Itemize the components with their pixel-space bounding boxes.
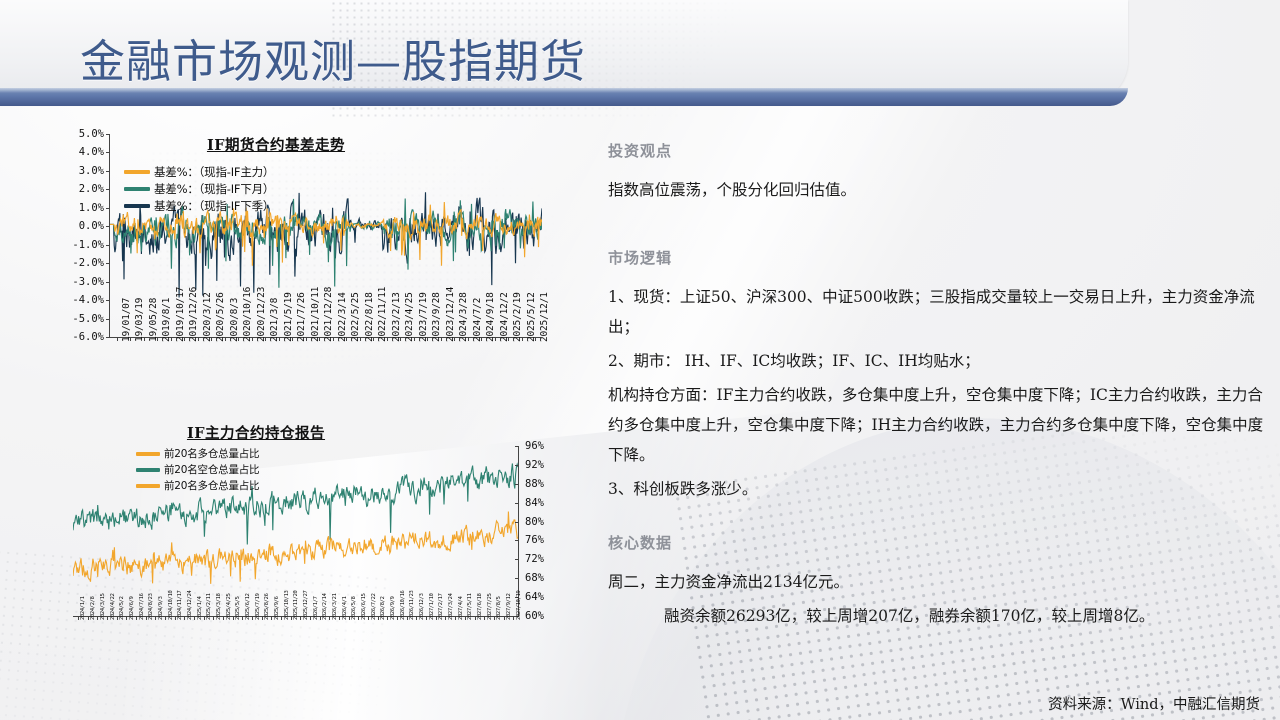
slide-header: 金融市场观测—股指期货 [0,0,1128,104]
source-note: 资料来源：Wind，中融汇信期货 [1048,693,1260,714]
legend-item-basis-next-month: 基差%：（现指-IF下月） [124,181,274,197]
spacer-2 [608,508,1268,532]
core-data-line-1: 周二，主力资金净流出2134亿元。 [608,567,1268,597]
legend-swatch-icon-next-month [124,187,150,191]
source-wrapper: 资料来源：Wind，中融汇信期货 [608,690,1270,714]
legend-label-long-dup: 前20名多仓总量占比 [164,478,259,493]
section-heading-investment-view: 投资观点 [608,140,1268,161]
core-data-line-2: 融资余额26293亿，较上周增207亿，融券余额170亿，较上周增8亿。 [608,601,1268,631]
basis-legend: 基差%：（现指-IF主力） 基差%：（现指-IF下月） 基差%：（现指-IF下季… [124,164,274,215]
legend-label-next-quarter: 基差%：（现指-IF下季） [154,198,274,214]
legend-item-long-top20-dup: 前20名多仓总量占比 [136,478,259,493]
if-position-chart: IF主力合约持仓报告 96%92%88%84%80%76%72%68%64%60… [46,418,566,708]
chart-title-position: IF主力合约持仓报告 [76,422,436,443]
legend-label-next-month: 基差%：（现指-IF下月） [154,181,274,197]
page-title: 金融市场观测—股指期货 [80,36,586,88]
spacer [608,209,1268,247]
market-logic-item-2: 2、期市： IH、IF、IC均收跌；IF、IC、IH均贴水； [608,346,1268,376]
legend-label-long: 前20名多仓总量占比 [164,446,259,461]
legend-swatch-icon-long [136,452,160,456]
legend-item-short-top20: 前20名空仓总量占比 [136,462,259,477]
legend-label-short: 前20名空仓总量占比 [164,462,259,477]
legend-item-basis-main: 基差%：（现指-IF主力） [124,164,274,180]
legend-item-basis-next-quarter: 基差%：（现指-IF下季） [124,198,274,214]
market-logic-item-1: 1、现货：上证50、沪深300、中证500收跌；三股指成交量较上一交易日上升，主… [608,282,1268,342]
legend-label-main: 基差%：（现指-IF主力） [154,164,274,180]
position-legend: 前20名多仓总量占比 前20名空仓总量占比 前20名多仓总量占比 [136,446,259,494]
investment-view-text: 指数高位震荡，个股分化回归估值。 [608,175,1268,205]
legend-item-long-top20: 前20名多仓总量占比 [136,446,259,461]
legend-swatch-icon-next-quarter [124,204,150,208]
legend-swatch-icon-long-dup [136,484,160,488]
legend-swatch-icon-main [124,170,150,174]
commentary-column: 投资观点 指数高位震荡，个股分化回归估值。 市场逻辑 1、现货：上证50、沪深3… [608,140,1268,635]
slide-canvas: 金融市场观测—股指期货 IF期货合约基差走势 5.0%4.0%3.0%2.0%1… [0,0,1280,720]
legend-swatch-icon-short [136,468,160,472]
market-logic-item-3: 机构持仓方面：IF主力合约收跌，多仓集中度上升，空仓集中度下降；IC主力合约收跌… [608,380,1268,470]
if-basis-chart: IF期货合约基差走势 5.0%4.0%3.0%2.0%1.0%0.0%-1.0%… [46,126,566,406]
header-accent-bar-highlight [0,88,1128,93]
charts-column: IF期货合约基差走势 5.0%4.0%3.0%2.0%1.0%0.0%-1.0%… [46,126,566,706]
section-heading-core-data: 核心数据 [608,532,1268,553]
section-heading-market-logic: 市场逻辑 [608,247,1268,268]
market-logic-item-4: 3、科创板跌多涨少。 [608,474,1268,504]
